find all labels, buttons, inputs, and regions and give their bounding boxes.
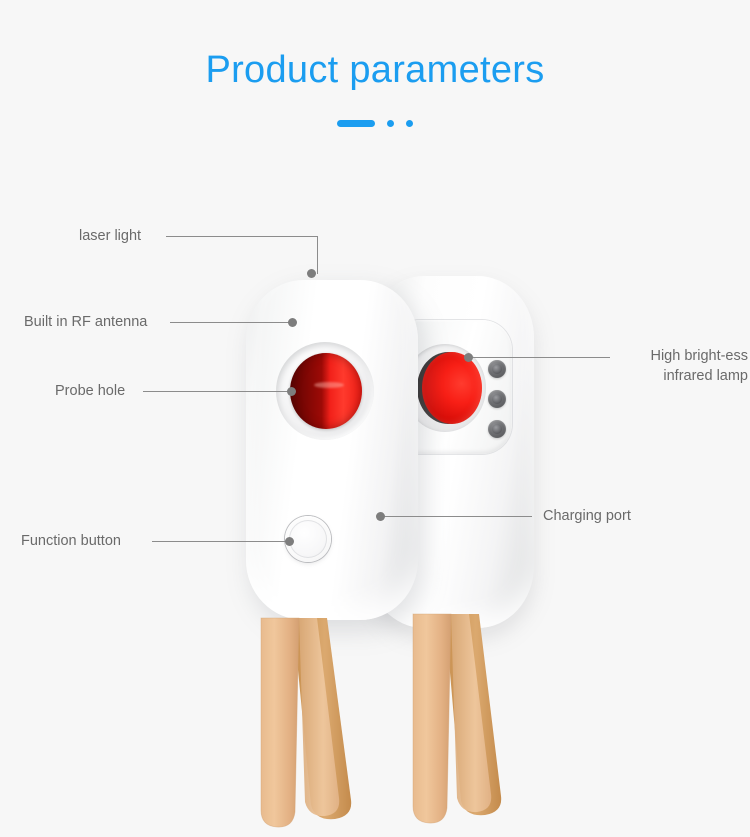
leader-line-infrared-lamp [470, 357, 610, 358]
leader-line-probe-hole [143, 391, 290, 392]
leader-dot-probe-hole [287, 387, 296, 396]
callout-label-charging-port: Charging port [543, 506, 631, 526]
leader-dot-rf-antenna [288, 318, 297, 327]
callout-label-built-in-rf-antenna: Built in RF antenna [24, 312, 147, 332]
callout-label-function-button: Function button [21, 531, 121, 551]
callout-label-laser-light: laser light [79, 226, 141, 246]
callout-label-probe-hole: Probe hole [55, 381, 125, 401]
leader-line-function-button [152, 541, 286, 542]
callout-label-high-brightness-infrared-lamp: High bright-ess infrared lamp [470, 346, 748, 386]
leader-dot-function-button [285, 537, 294, 546]
leader-line-laser-light-vertical [317, 236, 318, 274]
leader-dot-infrared-lamp [464, 353, 473, 362]
product-parameters-page: Product parameters [0, 0, 750, 837]
leader-line-rf-antenna [170, 322, 291, 323]
leader-dot-charging-port [376, 512, 385, 521]
leader-line-charging-port [382, 516, 532, 517]
leader-dot-laser-light [307, 269, 316, 278]
leader-line-laser-light-horizontal [166, 236, 318, 237]
callout-layer: laser light Built in RF antenna Probe ho… [0, 0, 750, 837]
